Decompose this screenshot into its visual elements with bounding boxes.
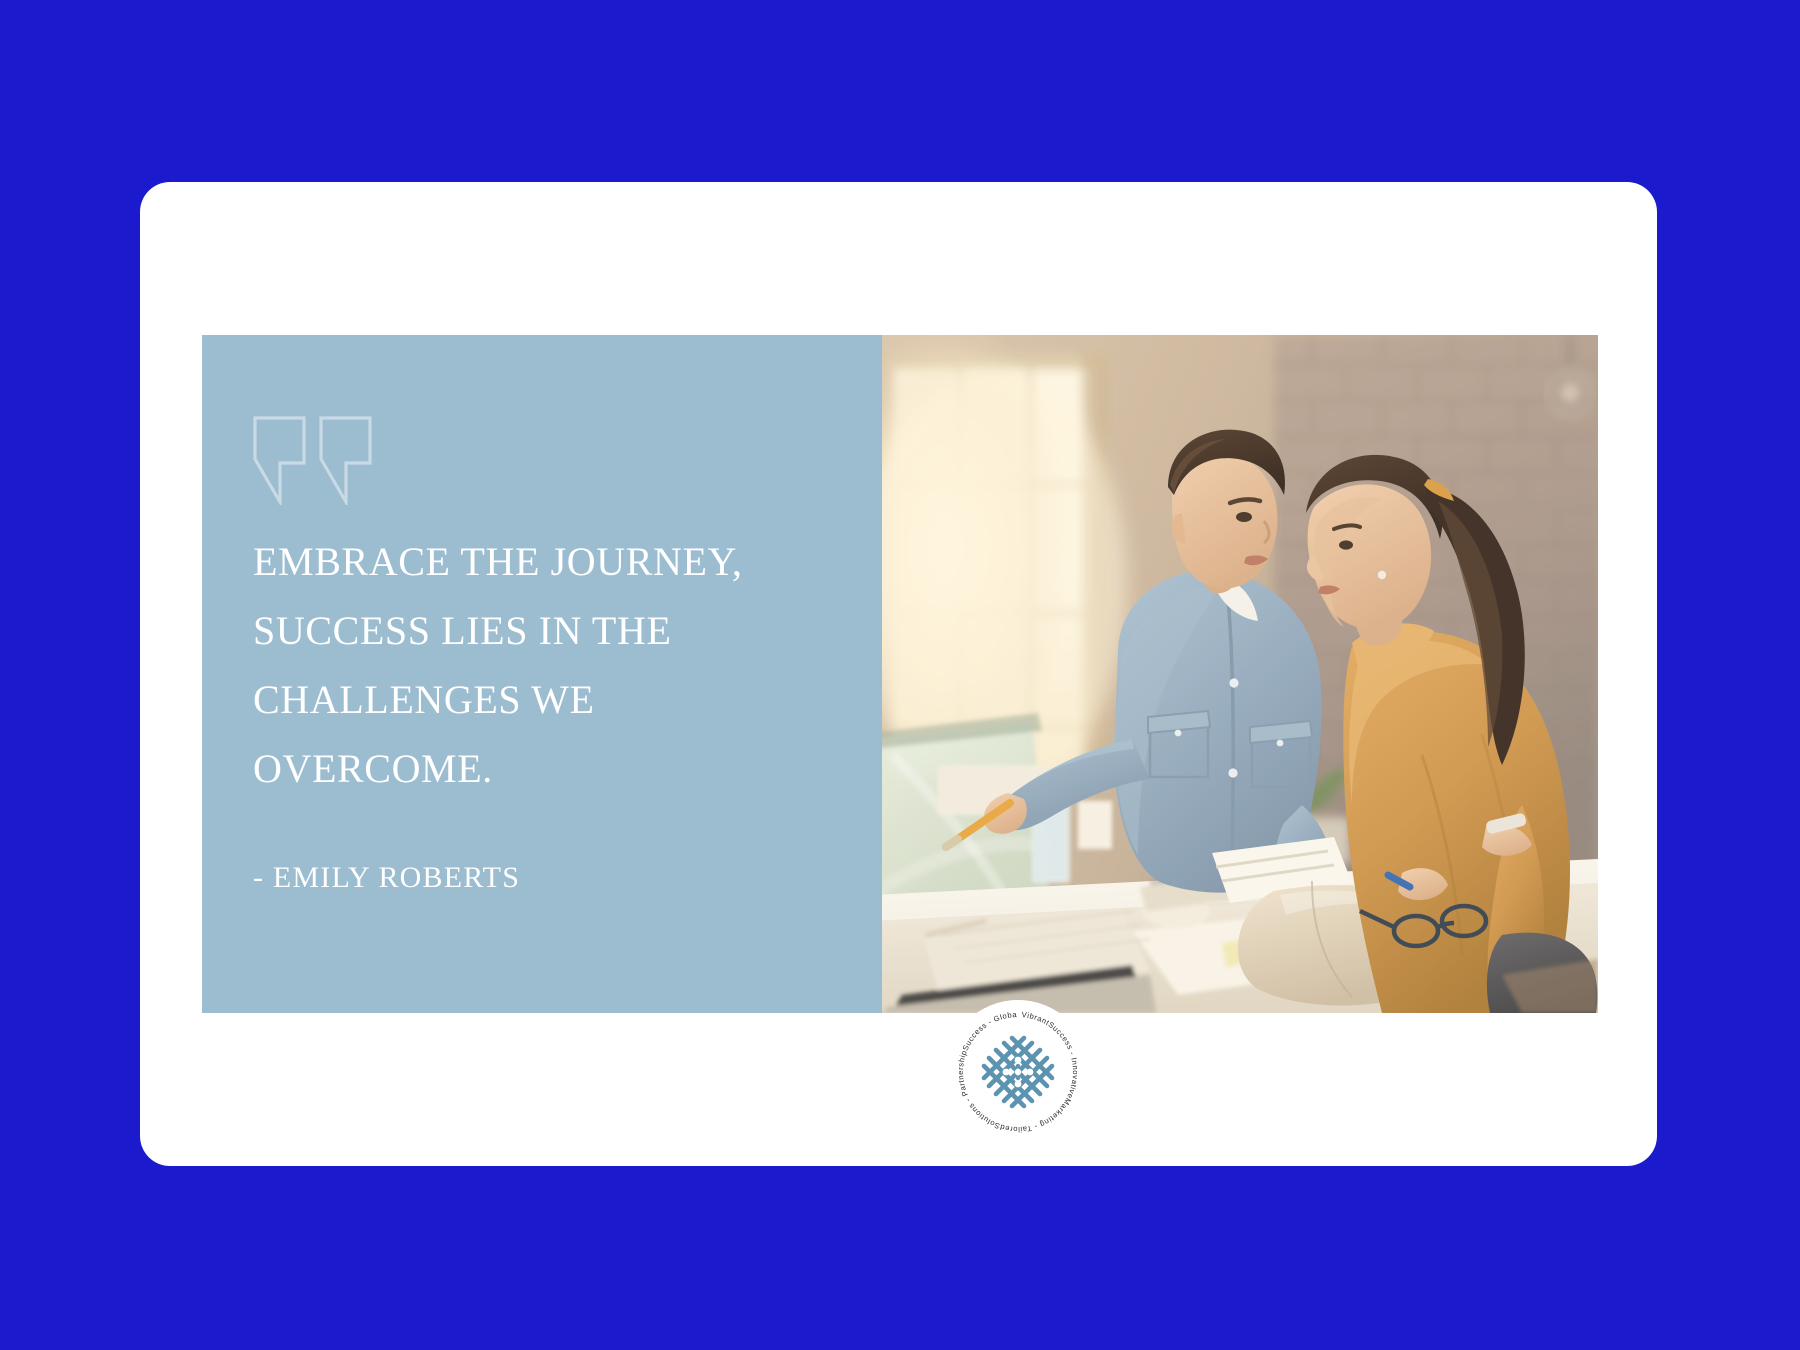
double-quote-icon (252, 415, 376, 505)
quote-slide: EMBRACE THE JOURNEY, SUCCESS LIES IN THE… (202, 335, 1598, 1013)
slide-card: EMBRACE THE JOURNEY, SUCCESS LIES IN THE… (140, 182, 1657, 1166)
team-collaboration-photo (882, 335, 1598, 1013)
quote-body: EMBRACE THE JOURNEY, SUCCESS LIES IN THE… (253, 527, 843, 895)
quote-author: - EMILY ROBERTS (253, 861, 843, 895)
quote-panel: EMBRACE THE JOURNEY, SUCCESS LIES IN THE… (202, 335, 882, 1013)
quote-text: EMBRACE THE JOURNEY, SUCCESS LIES IN THE… (253, 527, 843, 803)
brand-stamp-badge: VibrantSuccess - InnovativeMarketing - T… (946, 1000, 1090, 1144)
